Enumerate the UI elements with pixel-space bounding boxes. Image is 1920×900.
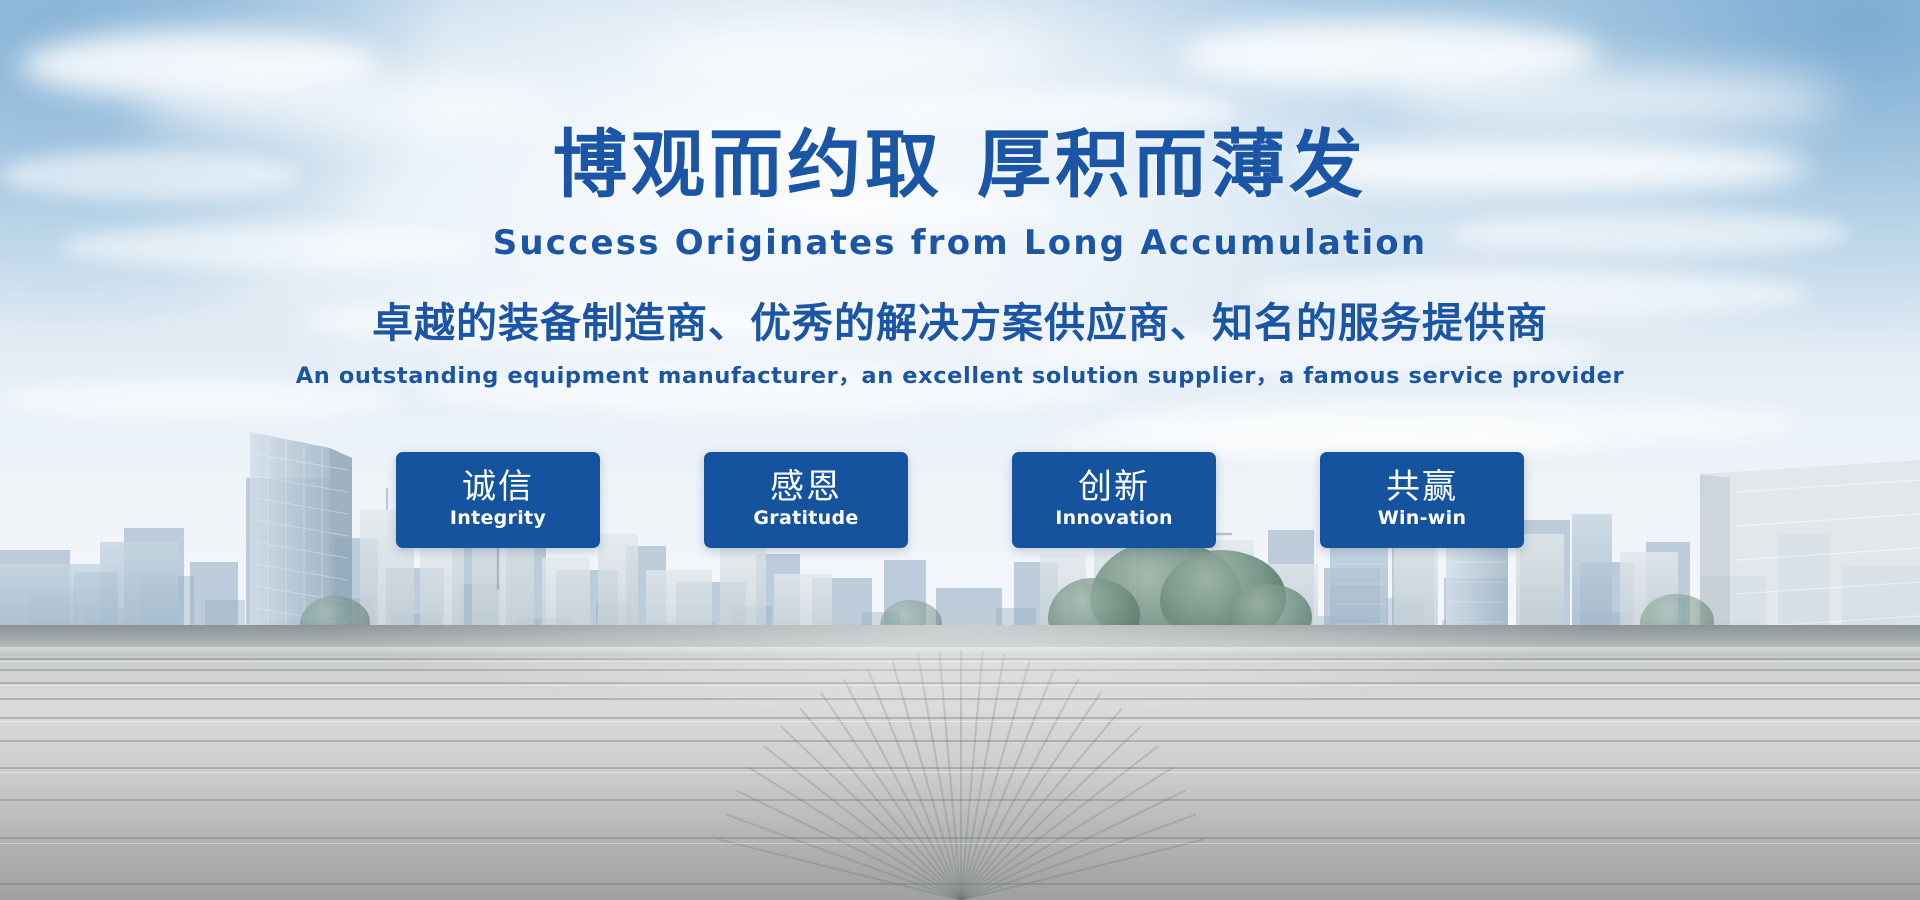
value-box-gratitude-cn: 感恩 [770, 468, 842, 506]
value-box-winwin-cn: 共赢 [1386, 468, 1458, 506]
value-box-winwin[interactable]: 共赢 Win-win [1320, 452, 1524, 548]
subheadline-chinese: 卓越的装备制造商、优秀的解决方案供应商、知名的服务提供商 [0, 303, 1920, 344]
value-box-integrity-cn: 诚信 [462, 468, 534, 506]
headline-english: Success Originates from Long Accumulatio… [0, 226, 1920, 260]
value-box-row: 诚信 Integrity 感恩 Gratitude 创新 Innovation … [0, 452, 1920, 548]
value-box-integrity-en: Integrity [450, 506, 546, 532]
headline-chinese-part1: 博观而约取 [553, 122, 943, 208]
banner-content: 博观而约取厚积而薄发 Success Originates from Long … [0, 0, 1920, 900]
headline-chinese: 博观而约取厚积而薄发 [0, 128, 1920, 202]
value-box-integrity[interactable]: 诚信 Integrity [396, 452, 600, 548]
value-box-gratitude[interactable]: 感恩 Gratitude [704, 452, 908, 548]
value-box-innovation-en: Innovation [1055, 506, 1173, 532]
headline-chinese-part2: 厚积而薄发 [977, 122, 1367, 208]
value-box-winwin-en: Win-win [1378, 506, 1467, 532]
value-box-gratitude-en: Gratitude [753, 506, 858, 532]
value-box-innovation-cn: 创新 [1078, 468, 1150, 506]
corporate-banner: 博观而约取厚积而薄发 Success Originates from Long … [0, 0, 1920, 900]
value-box-innovation[interactable]: 创新 Innovation [1012, 452, 1216, 548]
subheadline-english: An outstanding equipment manufacturer，an… [0, 365, 1920, 388]
